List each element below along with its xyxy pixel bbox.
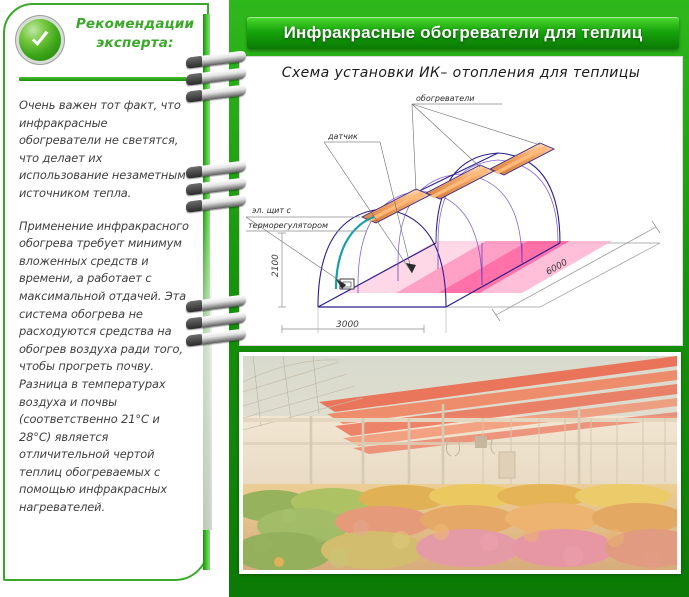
label-sensor: датчик — [327, 132, 358, 141]
card-title: Рекомендации эксперта: — [71, 15, 199, 53]
binder-ring — [186, 67, 246, 85]
binder-spine-shadow — [203, 200, 212, 530]
installation-diagram: Схема установки ИК– отопления для теплиц… — [239, 56, 683, 346]
card-title-line1: Рекомендации — [76, 16, 194, 32]
label-panel-line1: эл. щит с — [252, 206, 292, 215]
paragraph-1: Очень важен тот факт, что инфракрасные о… — [19, 97, 189, 203]
binder-ring-group-top — [186, 54, 248, 110]
banner-title: Инфракрасные обогреватели для теплиц — [284, 23, 643, 43]
card-header: Рекомендации эксперта: — [15, 13, 201, 71]
binder-ring — [186, 194, 246, 212]
diagram-drawing: обогреватели датчик эл. щит с терморегул… — [240, 57, 682, 345]
binder-ring — [186, 294, 246, 312]
binder-ring — [186, 84, 246, 102]
header-divider — [19, 77, 187, 81]
binder-ring — [186, 160, 246, 178]
card-body-text: Очень важен тот факт, что инфракрасные о… — [19, 97, 189, 517]
label-panel-line2: терморегулятором — [248, 221, 328, 230]
binder-ring — [186, 177, 246, 195]
card-title-line2: эксперта: — [96, 35, 173, 51]
greenhouse-photo-frame — [239, 352, 681, 574]
binder-ring — [186, 311, 246, 329]
paragraph-2: Применение инфракрасного обогрева требуе… — [19, 218, 189, 517]
infographic-page: Инфракрасные обогреватели для теплиц Схе… — [0, 0, 689, 597]
binder-ring — [186, 50, 246, 68]
expert-recommendation-card: Рекомендации эксперта: Очень важен тот ф… — [3, 3, 209, 581]
label-heaters: обогреватели — [416, 94, 474, 103]
greenhouse-photo — [243, 356, 677, 570]
dimension-width: 3000 — [336, 320, 359, 330]
binder-ring-group-bottom — [186, 298, 248, 354]
dimension-height: 2100 — [271, 254, 281, 277]
green-check-badge-icon — [19, 19, 61, 61]
binder-ring — [186, 328, 246, 346]
binder-ring-group-middle — [186, 164, 248, 220]
page-banner: Инфракрасные обогреватели для теплиц — [247, 17, 679, 49]
